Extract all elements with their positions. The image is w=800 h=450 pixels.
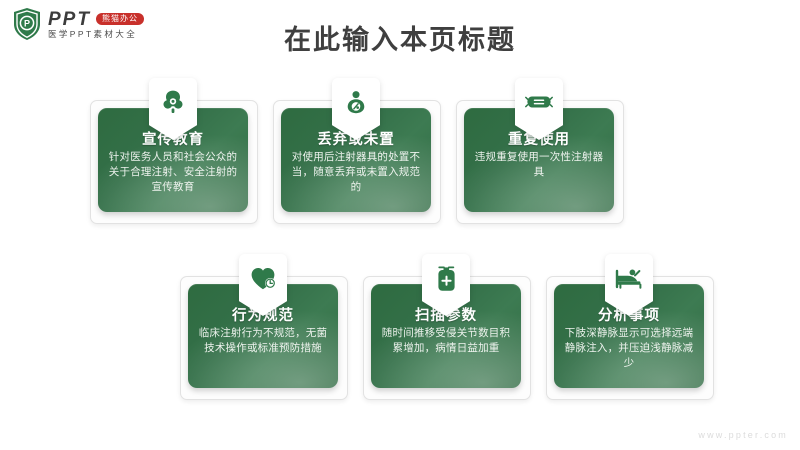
icon-glyph xyxy=(149,86,197,118)
icon-glyph xyxy=(605,262,653,294)
card-body: 临床注射行为不规范，无菌技术操作或标准预防措施 xyxy=(197,326,329,356)
card-body: 对使用后注射器具的处置不当，随意丢弃或未置入规范的 xyxy=(290,150,422,195)
icon-glyph xyxy=(332,86,380,118)
icon-glyph xyxy=(422,262,470,294)
info-card[interactable]: 宣传教育针对医务人员和社会公众的关于合理注射、安全注射的宣传教育 xyxy=(90,78,256,248)
slide-canvas: P PPT 熊猫办公 医学PPT素材大全 在此输入本页标题 宣传教育针对医务人员… xyxy=(0,0,800,450)
site-watermark: www.ppter.com xyxy=(698,430,788,440)
info-card[interactable]: 重复使用违规重复使用一次性注射器具 xyxy=(456,78,622,248)
info-card[interactable]: 分析事项下肢深静脉显示可选择远端静脉注入，并压迫浅静脉减少 xyxy=(546,254,712,424)
hospital-bed-icon[interactable] xyxy=(605,254,653,316)
card-body: 随时间推移受侵关节数目积累增加，病情日益加重 xyxy=(380,326,512,356)
info-card[interactable]: 丢弃或未置对使用后注射器具的处置不当，随意丢弃或未置入规范的 xyxy=(273,78,439,248)
card-body: 违规重复使用一次性注射器具 xyxy=(473,150,605,180)
page-title: 在此输入本页标题 xyxy=(0,18,800,57)
icon-glyph xyxy=(239,262,287,294)
patient-person-icon[interactable] xyxy=(332,78,380,140)
card-body: 下肢深静脉显示可选择远端静脉注入，并压迫浅静脉减少 xyxy=(563,326,695,371)
card-body: 针对医务人员和社会公众的关于合理注射、安全注射的宣传教育 xyxy=(107,150,239,195)
face-mask-icon[interactable] xyxy=(515,78,563,140)
sanitizer-bottle-icon[interactable] xyxy=(422,254,470,316)
gas-mask-icon[interactable] xyxy=(149,78,197,140)
info-card[interactable]: 行为规范临床注射行为不规范，无菌技术操作或标准预防措施 xyxy=(180,254,346,424)
info-card[interactable]: 扫描参数随时间推移受侵关节数目积累增加，病情日益加重 xyxy=(363,254,529,424)
icon-glyph xyxy=(515,86,563,118)
heart-clock-icon[interactable] xyxy=(239,254,287,316)
